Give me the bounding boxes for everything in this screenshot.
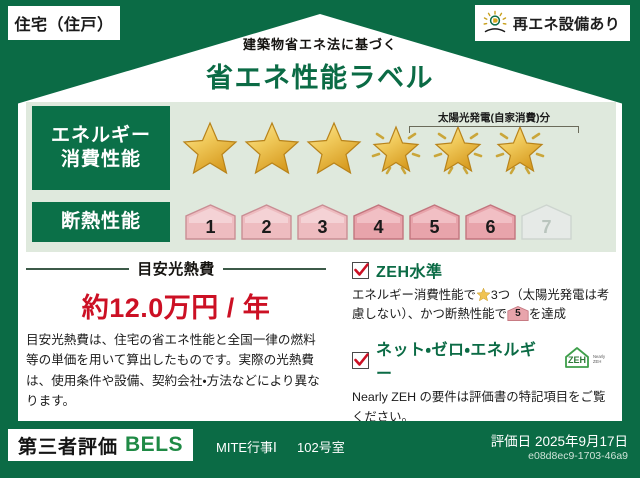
svg-text:ZEH: ZEH (593, 359, 601, 364)
insulation-performance-row: 断熱性能 1 2 3 4 (26, 198, 573, 246)
divider-left (26, 268, 129, 270)
insulation-level-4-label: 4 (373, 217, 383, 238)
building-name: MITE行事Ⅰ (216, 437, 277, 456)
star-icon (242, 118, 302, 178)
check-icon (352, 352, 369, 369)
zeh-standard-title: ZEH水準 (376, 258, 443, 282)
energy-tag-line1: エネルギー (51, 124, 151, 148)
sun-icon (482, 10, 508, 36)
bels-certification-chip: 第三者評価 BELS (8, 429, 193, 461)
headline-subtitle: 建築物省エネ法に基づく (0, 34, 640, 53)
housing-type-label: 住宅（住戸） (14, 11, 113, 35)
insulation-level-5: 5 (408, 203, 461, 241)
zeh-column: ZEH水準 エネルギー消費性能で 3つ（太陽光発電は考慮しない）、かつ断熱性能で… (352, 258, 614, 435)
insulation-level-6: 6 (464, 203, 517, 241)
divider-right (223, 268, 326, 270)
zeh-standard-body: エネルギー消費性能で 3つ（太陽光発電は考慮しない）、かつ断熱性能で 5 を達成 (352, 286, 614, 324)
star-icon (304, 118, 364, 178)
utility-cost-note: 目安光熱費は、住宅の省エネ性能と全国一律の燃料等の単価を用いて算出したものです。… (26, 330, 328, 412)
insulation-level-1: 1 (184, 203, 237, 241)
energy-performance-label: 住宅（住戸） 再エネ設備あり 建築物省エネ法に基づく (0, 0, 640, 478)
evaluation-id: e08d8ec9-1703-46a9 (528, 450, 628, 462)
insulation-level-3-label: 3 (317, 217, 327, 238)
utility-cost-heading: 目安光熱費 (26, 258, 326, 279)
solar-annotation-label: 太陽光発電(自家消費)分 (409, 110, 579, 125)
insulation-level-2: 2 (240, 203, 293, 241)
bels-jp-label: 第三者評価 (18, 432, 118, 459)
insulation-level-5-label: 5 (429, 217, 439, 238)
utility-cost-title: 目安光熱費 (137, 258, 215, 279)
zeh-body-part1: エネルギー消費性能で (352, 288, 476, 302)
zeh-standard-header: ZEH水準 (352, 258, 614, 282)
energy-performance-row: エネルギー 消費性能 (26, 102, 550, 194)
zeh-body-part3: を達成 (529, 307, 566, 321)
insulation-performance-tag: 断熱性能 (32, 202, 170, 242)
insulation-level-6-label: 6 (485, 217, 495, 238)
solar-bracket (409, 126, 579, 133)
insulation-level-3: 3 (296, 203, 349, 241)
label-headline: 建築物省エネ法に基づく 省エネ性能ラベル (0, 34, 640, 95)
utility-cost-block: 目安光熱費 約12.0万円 / 年 (26, 258, 326, 325)
performance-panel: エネルギー 消費性能 (26, 102, 616, 252)
energy-tag-line2: 消費性能 (61, 148, 141, 172)
insulation-tag-label: 断熱性能 (61, 210, 141, 234)
zeh-house-logo: ZEH Nearly ZEH (562, 345, 614, 376)
utility-cost-value: 約12.0万円 / 年 (26, 286, 326, 325)
net-zero-energy-item: ネット・ゼロ・エネルギー ZEH Nearly ZEH Nearly ZEH の… (352, 336, 614, 426)
room-number: 102号室 (297, 437, 345, 456)
net-zero-energy-header: ネット・ゼロ・エネルギー ZEH Nearly ZEH (352, 336, 614, 384)
insulation-level-badge-inline: 5 (507, 305, 529, 322)
insulation-level-badge-label: 5 (507, 305, 529, 322)
star-icon-inline (476, 287, 491, 302)
insulation-level-scale: 1 2 3 4 5 (184, 203, 573, 241)
net-zero-energy-title: ネット・ゼロ・エネルギー (376, 336, 552, 384)
star-icon (180, 118, 240, 178)
insulation-level-2-label: 2 (261, 217, 271, 238)
insulation-level-4: 4 (352, 203, 405, 241)
insulation-level-7: 7 (520, 203, 573, 241)
label-footer: 第三者評価 BELS MITE行事Ⅰ 102号室 評価日 2025年9月17日 … (0, 421, 640, 478)
zeh-standard-item: ZEH水準 エネルギー消費性能で 3つ（太陽光発電は考慮しない）、かつ断熱性能で… (352, 258, 614, 324)
check-icon (352, 262, 369, 279)
bels-en-label: BELS (125, 433, 183, 457)
insulation-level-7-label: 7 (541, 217, 551, 238)
evaluation-date: 評価日 2025年9月17日 (491, 430, 628, 450)
svg-text:ZEH: ZEH (568, 355, 586, 365)
solar-generation-annotation: 太陽光発電(自家消費)分 (409, 110, 579, 133)
page-title: 省エネ性能ラベル (0, 56, 640, 95)
renewable-badge-label: 再エネ設備あり (513, 13, 620, 34)
energy-performance-tag: エネルギー 消費性能 (32, 106, 170, 190)
insulation-level-1-label: 1 (205, 217, 215, 238)
